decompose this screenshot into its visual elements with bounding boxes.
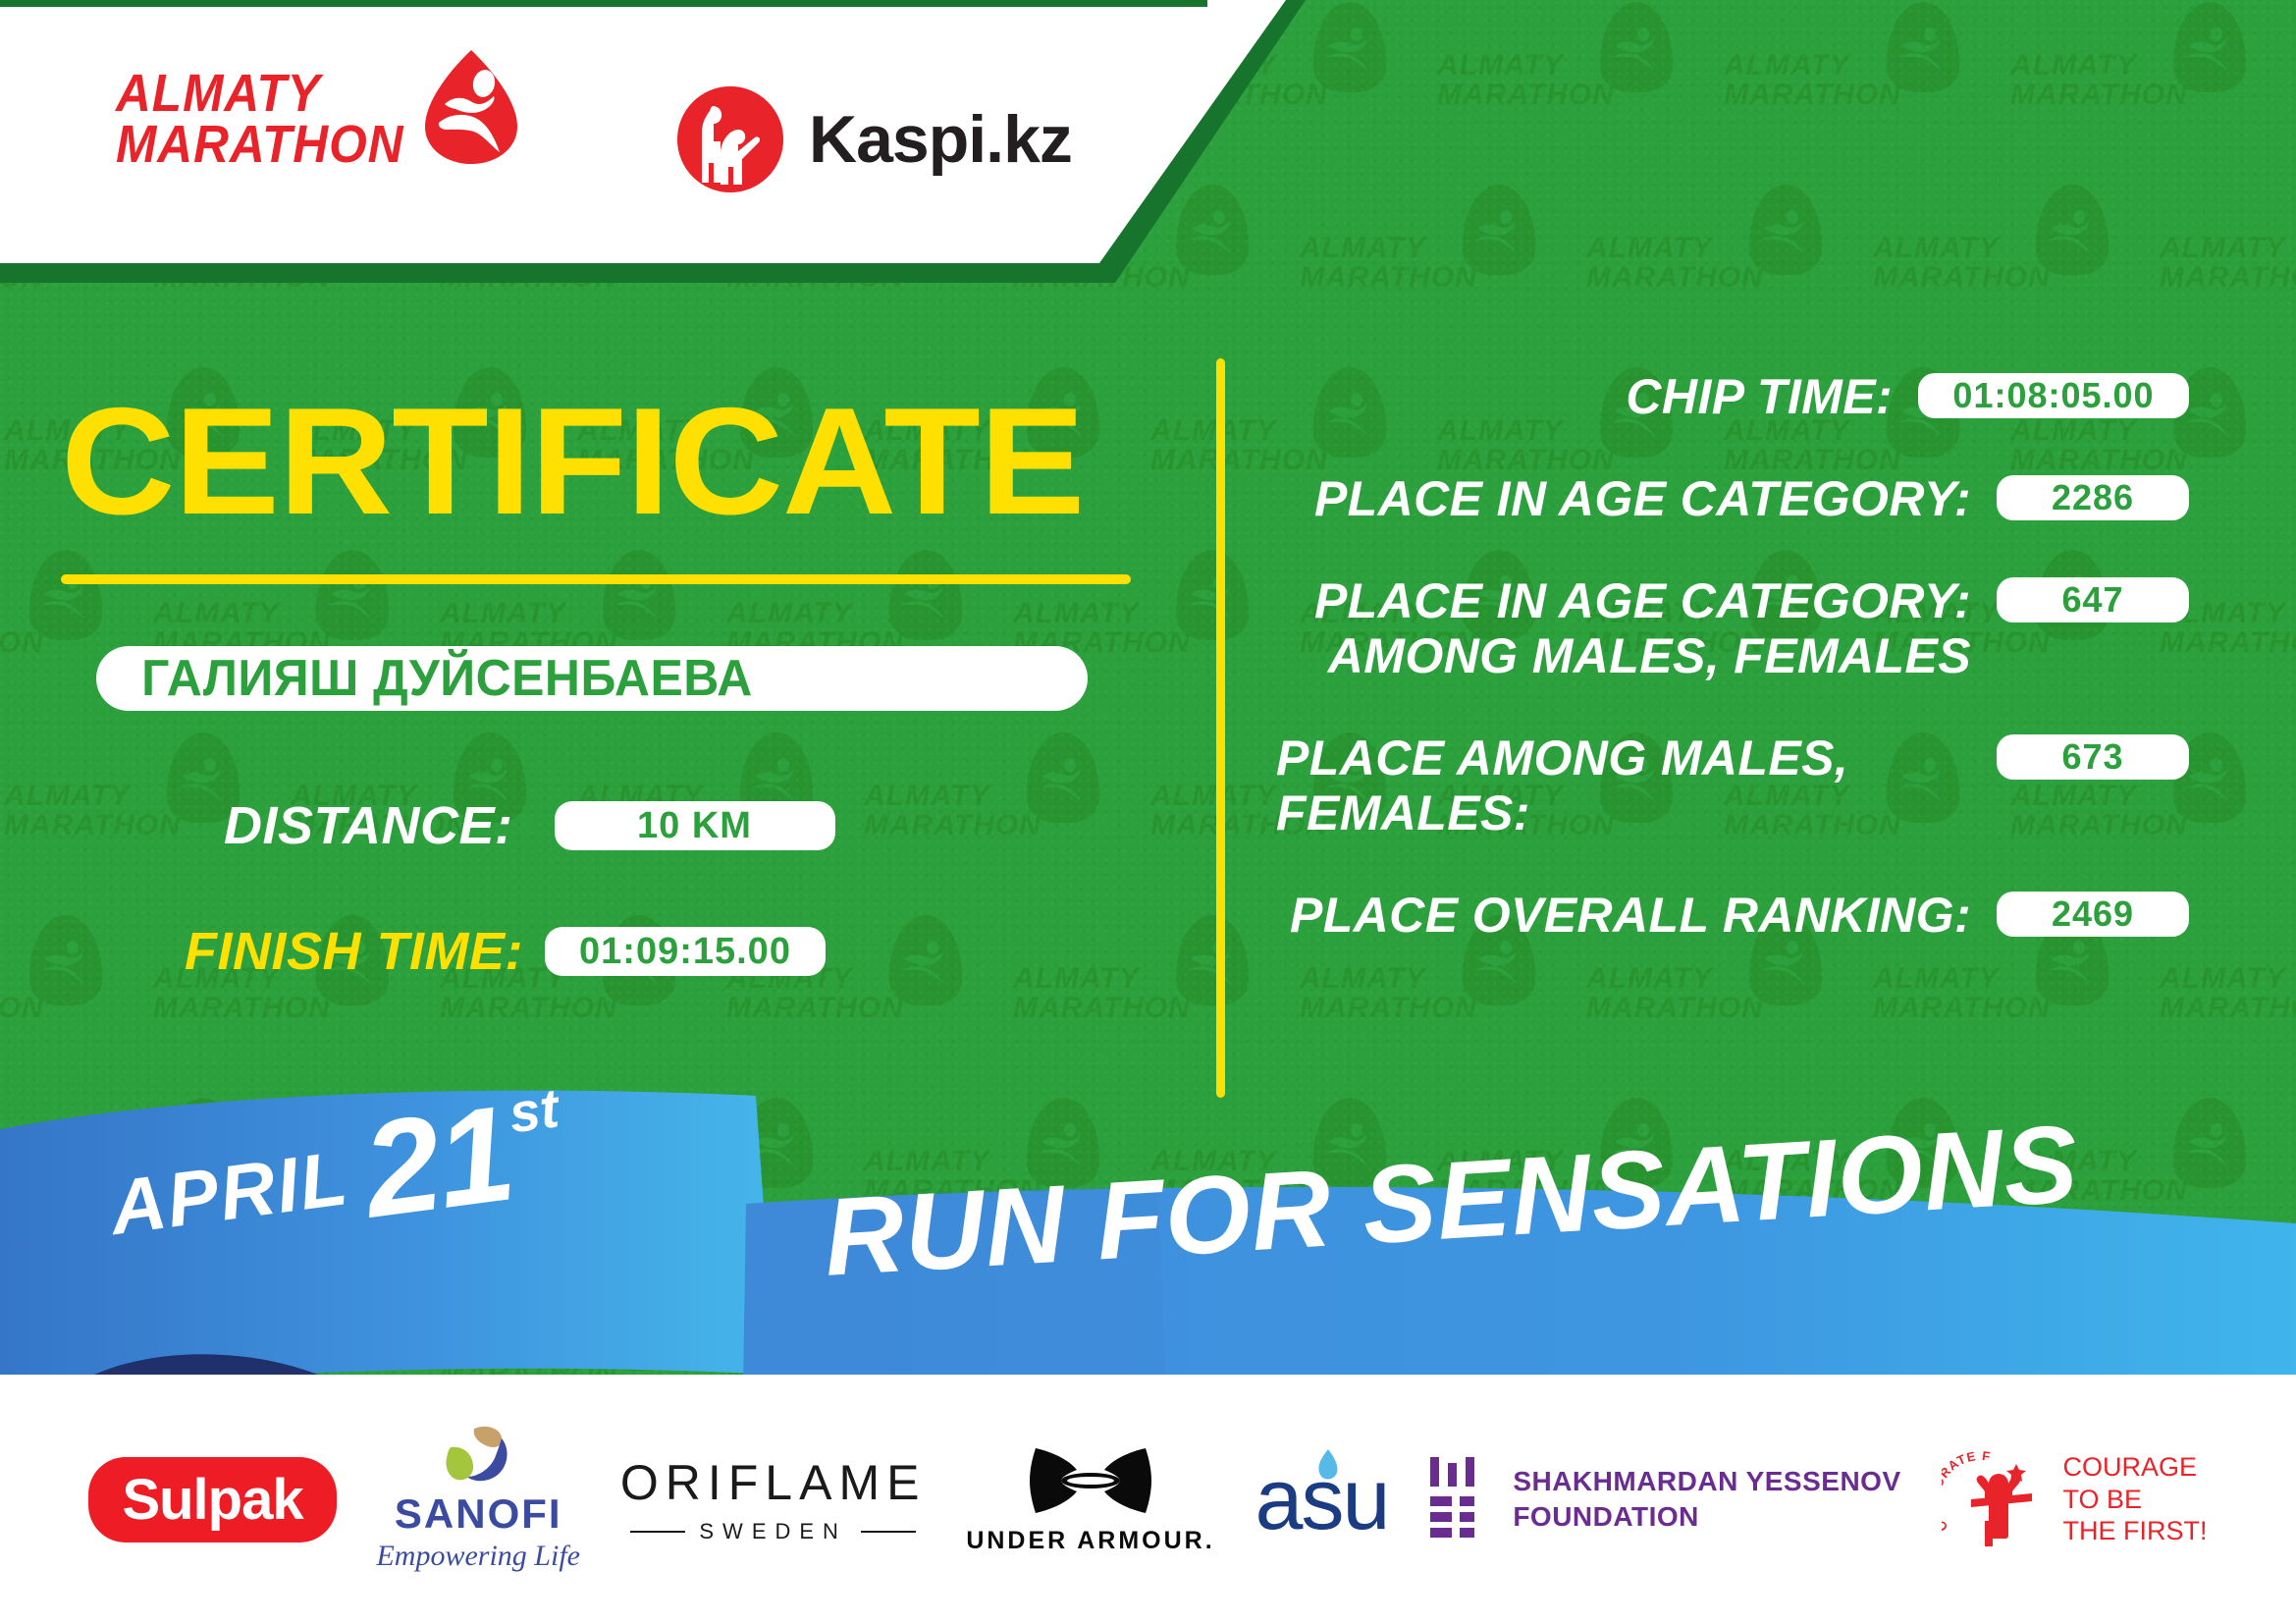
participant-name-field: ГАЛИЯШ ДУЙСЕНБАЕВА (96, 646, 1088, 711)
watermark-runner-icon (1323, 27, 1376, 71)
watermark-tile: ALMATYMARATHON (0, 913, 108, 1068)
watermark-text-2: MARATHON (2010, 79, 2188, 112)
watermark-text-1: ALMATY (1013, 962, 1140, 996)
participant-name-value: ГАЛИЯШ ДУЙСЕНБАЕВА (96, 649, 753, 708)
yessenov-bars-icon (1428, 1457, 1489, 1542)
almaty-runner-drop-icon (423, 48, 519, 166)
watermark-runner-icon (1610, 27, 1663, 71)
sponsor-under-armour: UNDER ARMOUR. (966, 1444, 1214, 1555)
watermark-runner-icon (899, 941, 952, 984)
watermark-runner-icon (1472, 210, 1525, 253)
watermark-text-1: ALMATY (1586, 232, 1713, 265)
marathon-text: MARATHON (116, 120, 403, 171)
watermark-tile: ALMATYMARATHON (2006, 0, 2252, 155)
watermark-text-1: ALMATY (1300, 232, 1426, 265)
watermark-text-1: ALMATY (440, 597, 566, 630)
watermark-text-1: ALMATY (1724, 49, 1850, 82)
column-divider (1216, 358, 1225, 1098)
stat-row-chip-time: CHIP TIME: 01:08:05.00 (1276, 369, 2189, 424)
watermark-tile: ALMATYMARATHON (0, 731, 245, 886)
almaty-marathon-wordmark: ALMATY MARATHON (116, 69, 429, 171)
yessenov-line-2: FOUNDATION (1513, 1499, 1900, 1535)
asu-drop-icon (1307, 1445, 1346, 1485)
watermark-runner-icon (1186, 210, 1239, 253)
courage-line-2: TO BE (2063, 1484, 2208, 1516)
watermark-text-2: MARATHON (864, 809, 1041, 842)
watermark-tile: ALMATYMARATHON (0, 548, 108, 703)
watermark-runner-icon (1186, 941, 1239, 984)
distance-label: DISTANCE: (224, 795, 513, 856)
oriflame-sweden-text: SWEDEN (699, 1519, 847, 1544)
watermark-text-2: MARATHON (153, 992, 331, 1025)
courage-line-1: COURAGE (2063, 1451, 2208, 1484)
watermark-tile: ALMATYMARATHON (860, 731, 1105, 886)
watermark-text-2: MARATHON (726, 992, 904, 1025)
watermark-text-2: MARATHON (1586, 261, 1764, 295)
watermark-runner-icon (39, 941, 92, 984)
watermark-text-1: ALMATY (864, 780, 990, 813)
finish-time-value-pill: 01:09:15.00 (545, 927, 826, 976)
courage-figure-icon: CORPORATE FUND (1942, 1448, 2050, 1550)
watermark-text-2: MARATHON (1300, 992, 1477, 1025)
yessenov-line-1: SHAKHMARDAN YESSENOV (1513, 1464, 1900, 1499)
watermark-text-1: ALMATY (4, 780, 131, 813)
watermark-text-1: ALMATY (1437, 49, 1564, 82)
watermark-text-2: MARATHON (4, 809, 182, 842)
place-among-gender-value: 673 (2061, 736, 2123, 778)
watermark-runner-icon (1759, 210, 1812, 253)
watermark-runner-icon (2183, 393, 2236, 436)
place-overall-value-pill: 2469 (1997, 892, 2189, 937)
watermark-text-2: MARATHON (2160, 261, 2296, 295)
sponsor-yessenov-foundation: SHAKHMARDAN YESSENOV FOUNDATION (1428, 1457, 1900, 1542)
courage-wordmark: COURAGE TO BE THE FIRST! (2063, 1451, 2208, 1548)
distance-value: 10 KM (637, 805, 752, 847)
almaty-marathon-logo: ALMATY MARATHON (116, 69, 519, 171)
distance-value-pill: 10 KM (555, 801, 835, 850)
watermark-text-2: MARATHON (1300, 261, 1477, 295)
watermark-runner-icon (2183, 758, 2236, 801)
event-day: 21 (358, 1097, 518, 1228)
watermark-text-1: ALMATY (1013, 597, 1140, 630)
watermark-text-1: ALMATY (1150, 414, 1277, 448)
watermark-text-1: ALMATY (2160, 232, 2286, 265)
watermark-text-1: ALMATY (2010, 49, 2137, 82)
watermark-text-2: MARATHON (2160, 992, 2296, 1025)
event-month: APRIL (105, 1133, 354, 1253)
watermark-tile: ALMATYMARATHON (1433, 0, 1679, 155)
watermark-text-2: MARATHON (1873, 261, 2051, 295)
place-among-gender-label: PLACE AMONG MALES,FEMALES: (1276, 731, 1971, 840)
watermark-runner-icon (177, 758, 230, 801)
distance-row: DISTANCE: 10 KM (224, 795, 835, 856)
watermark-text-1: ALMATY (1150, 780, 1277, 813)
stat-row-place-age-category-gender: PLACE IN AGE CATEGORY:AMONG MALES, FEMAL… (1276, 573, 2189, 683)
place-age-category-gender-value: 647 (2061, 579, 2123, 621)
finish-time-value: 01:09:15.00 (579, 931, 791, 973)
place-age-category-value-pill: 2286 (1997, 475, 2189, 520)
watermark-tile: ALMATYMARATHON (1582, 183, 1828, 338)
watermark-text-2: MARATHON (0, 626, 44, 660)
place-overall-value: 2469 (2052, 893, 2134, 935)
watermark-tile: ALMATYMARATHON (1869, 183, 2114, 338)
asu-wordmark: asu (1255, 1449, 1389, 1549)
place-age-category-value: 2286 (2052, 477, 2134, 518)
chip-time-label: CHIP TIME: (1276, 369, 1893, 424)
chip-time-value-pill: 01:08:05.00 (1918, 373, 2189, 418)
place-among-gender-value-pill: 673 (1997, 734, 2189, 780)
place-age-category-label: PLACE IN AGE CATEGORY: (1276, 471, 1971, 526)
sanofi-tagline: Empowering Life (376, 1540, 580, 1573)
watermark-runner-icon (2183, 27, 2236, 71)
kaspi-wordmark: Kaspi.kz (809, 101, 1072, 178)
watermark-text-1: ALMATY (153, 597, 280, 630)
watermark-text-2: MARATHON (0, 992, 44, 1025)
watermark-text-2: MARATHON (1873, 992, 2051, 1025)
finish-time-label: FINISH TIME: (185, 921, 523, 982)
kaspi-logo: Kaspi.kz (677, 86, 1072, 192)
sponsor-sanofi: SANOFI Empowering Life (376, 1426, 580, 1573)
sanofi-leaf-icon (441, 1426, 515, 1487)
kaspi-people-icon (677, 86, 783, 192)
sponsor-sulpak: Sulpak (88, 1457, 336, 1543)
watermark-text-2: MARATHON (1013, 992, 1191, 1025)
page-title: CERTIFICATE (61, 385, 1084, 537)
place-overall-label: PLACE OVERALL RANKING: (1276, 888, 1971, 943)
watermark-text-1: ALMATY (1873, 232, 2000, 265)
header-top-rule (0, 0, 1207, 7)
almaty-text: ALMATY (116, 69, 321, 120)
stat-row-place-age-category: PLACE IN AGE CATEGORY: 2286 (1276, 471, 2189, 526)
under-armour-wordmark: UNDER ARMOUR. (966, 1527, 1214, 1555)
stat-row-place-overall: PLACE OVERALL RANKING: 2469 (1276, 888, 2189, 943)
watermark-runner-icon (1037, 758, 1090, 801)
yessenov-wordmark: SHAKHMARDAN YESSENOV FOUNDATION (1513, 1464, 1900, 1536)
watermark-tile: ALMATYMARATHON (1720, 0, 1965, 155)
sponsor-courage-fund: CORPORATE FUND COURAGE TO BE THE FIRST! (1942, 1448, 2208, 1550)
sanofi-wordmark: SANOFI (395, 1490, 562, 1538)
watermark-runner-icon (1896, 27, 1949, 71)
title-underline (61, 574, 1131, 584)
watermark-text-2: MARATHON (1586, 992, 1764, 1025)
oriflame-sub: SWEDEN (630, 1519, 916, 1544)
oriflame-wordmark: ORIFLAME (620, 1454, 927, 1511)
watermark-text-2: MARATHON (1437, 79, 1615, 112)
results-stats-list: CHIP TIME: 01:08:05.00 PLACE IN AGE CATE… (1276, 369, 2189, 990)
sulpak-wordmark: Sulpak (122, 1467, 302, 1533)
watermark-text-2: MARATHON (1724, 79, 1901, 112)
watermark-runner-icon (1186, 575, 1239, 619)
courage-line-3: THE FIRST! (2063, 1515, 2208, 1547)
oriflame-rule-left (630, 1531, 685, 1533)
chip-time-value: 01:08:05.00 (1952, 375, 2154, 416)
stat-row-place-among-gender: PLACE AMONG MALES,FEMALES: 673 (1276, 731, 2189, 840)
certificate-canvas: ALMATYMARATHONALMATYMARATHONALMATYMARATH… (0, 0, 2296, 1624)
watermark-tile: ALMATYMARATHON (1296, 183, 1541, 338)
watermark-tile: ALMATYMARATHON (2156, 183, 2296, 338)
courage-arc-text: CORPORATE FUND (1942, 1448, 1992, 1534)
watermark-runner-icon (2046, 210, 2099, 253)
sponsor-oriflame: ORIFLAME SWEDEN (620, 1454, 927, 1544)
watermark-text-2: MARATHON (440, 992, 617, 1025)
sponsor-asu: asu (1255, 1449, 1389, 1549)
watermark-text-1: ALMATY (726, 597, 853, 630)
place-age-category-gender-value-pill: 647 (1997, 577, 2189, 623)
svg-text:CORPORATE FUND: CORPORATE FUND (1942, 1448, 1992, 1534)
finish-time-row: FINISH TIME: 01:09:15.00 (185, 921, 826, 982)
event-day-ordinal: st (506, 1075, 562, 1145)
sponsor-strip: Sulpak SANOFI Empowering Life ORIFLAME S… (0, 1375, 2296, 1624)
place-age-category-gender-label: PLACE IN AGE CATEGORY:AMONG MALES, FEMAL… (1276, 573, 1971, 683)
under-armour-logo-icon (1028, 1444, 1153, 1517)
oriflame-rule-right (861, 1531, 916, 1533)
